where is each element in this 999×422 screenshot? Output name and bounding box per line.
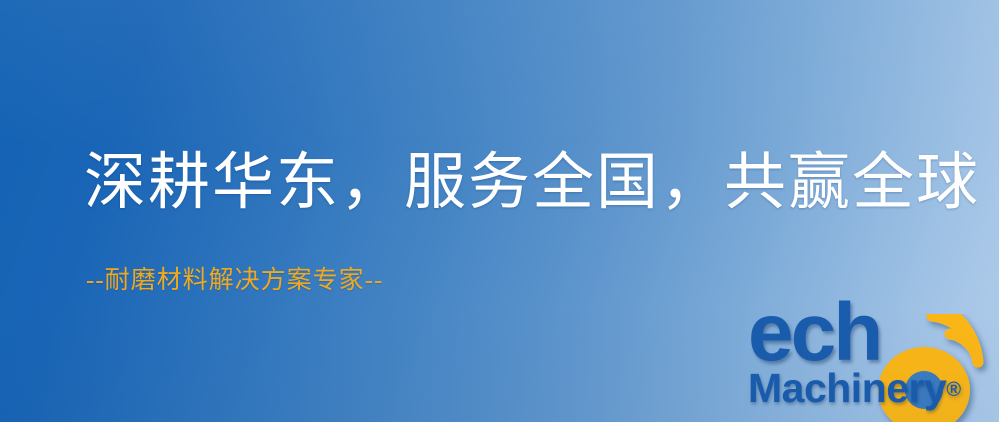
hero-banner: 深耕华东，服务全国，共赢全球 --耐磨材料解决方案专家-- ech bbox=[0, 0, 999, 422]
logo-tagline-wrapper: Machinery® bbox=[748, 368, 961, 409]
logo-text-echo: ech bbox=[748, 292, 880, 374]
page-headline: 深耕华东，服务全国，共赢全球 bbox=[84, 152, 980, 214]
registered-trademark-icon: ® bbox=[946, 379, 961, 401]
company-logo[interactable]: ech bbox=[744, 296, 999, 422]
logo-text-machinery: Machinery bbox=[748, 365, 946, 411]
page-subtitle: --耐磨材料解决方案专家-- bbox=[86, 268, 383, 293]
